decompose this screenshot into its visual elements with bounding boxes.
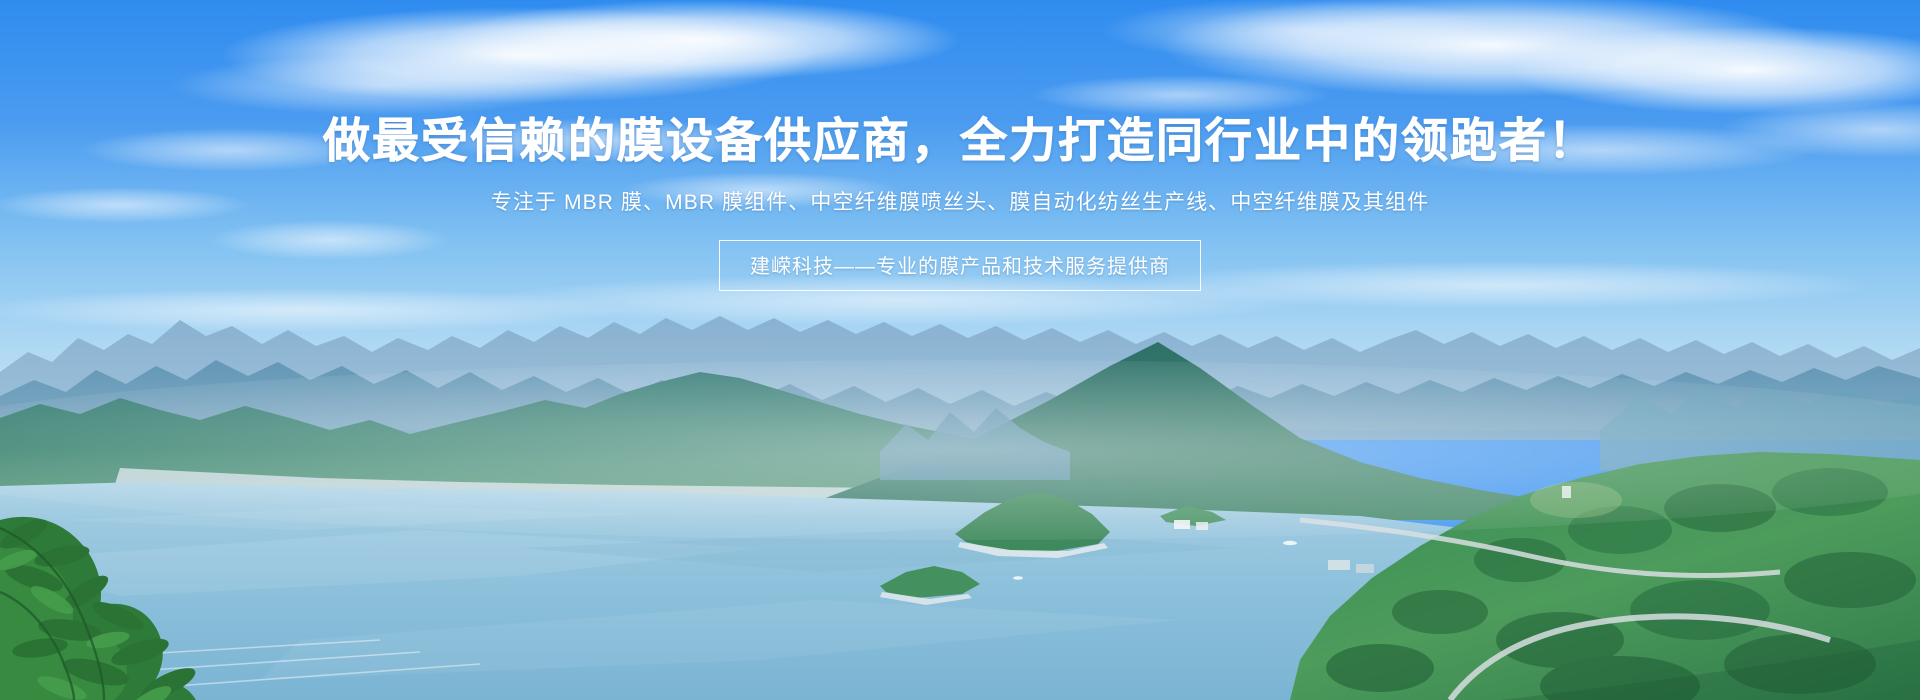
atmospheric-haze	[0, 360, 1920, 540]
landscape-illustration	[0, 0, 1920, 700]
hero-banner: 做最受信赖的膜设备供应商，全力打造同行业中的领跑者！ 专注于 MBR 膜、MBR…	[0, 0, 1920, 700]
banner-tagline-box[interactable]: 建嵘科技——专业的膜产品和技术服务提供商	[719, 240, 1201, 291]
